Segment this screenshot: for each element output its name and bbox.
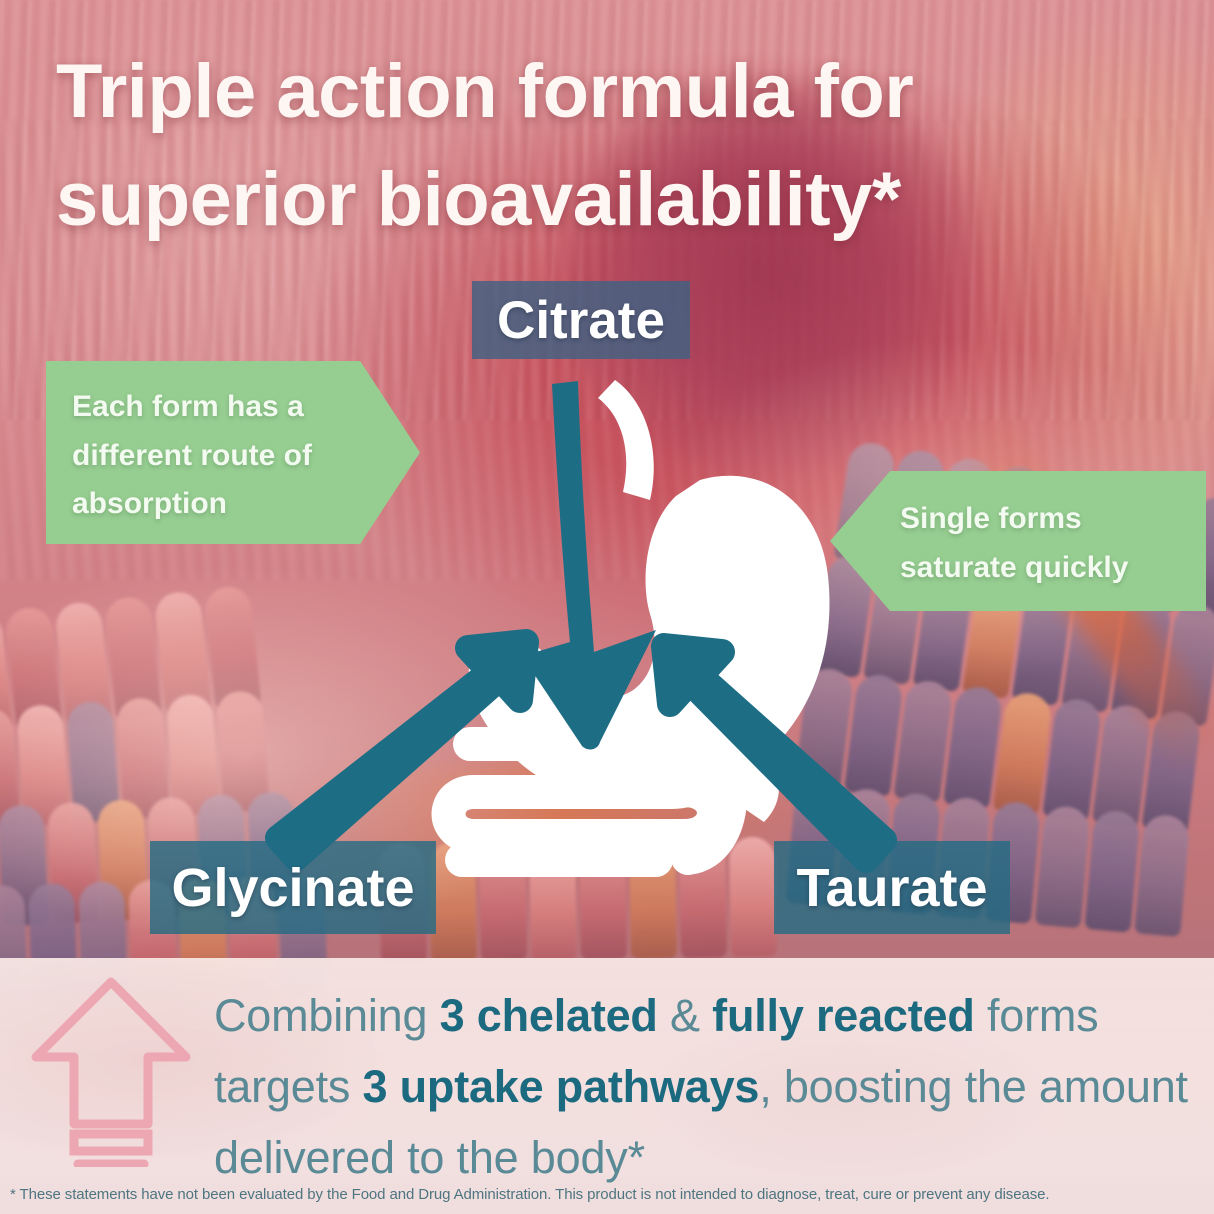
bottom-summary-panel: Combining 3 chelated & fully reacted for… <box>0 958 1214 1214</box>
page-title-line-2: superior bioavailability* <box>56 146 1066 254</box>
summary-part-0: Combining <box>214 990 440 1041</box>
summary-part-3: fully reacted <box>712 990 975 1041</box>
up-arrow-icon-wrapper <box>26 972 196 1167</box>
up-arrow-icon <box>26 972 196 1167</box>
fda-disclaimer: * These statements have not been evaluat… <box>10 1186 1210 1203</box>
bottom-summary-text: Combining 3 chelated & fully reacted for… <box>214 980 1204 1193</box>
label-taurate: Taurate <box>774 841 1010 934</box>
callout-right-saturation: Single forms saturate quickly <box>830 471 1206 611</box>
infographic-canvas: Triple action formula for superior bioav… <box>0 0 1214 1214</box>
summary-part-1: 3 chelated <box>440 990 658 1041</box>
summary-part-5: 3 uptake pathways <box>362 1061 759 1112</box>
background-villi-center <box>379 837 777 964</box>
summary-part-2: & <box>658 990 712 1041</box>
label-citrate: Citrate <box>472 281 690 359</box>
page-title-line-1: Triple action formula for <box>56 38 1066 146</box>
callout-left-absorption-route: Each form has a different route of absor… <box>46 361 420 544</box>
label-glycinate: Glycinate <box>150 841 436 934</box>
page-title: Triple action formula for superior bioav… <box>56 38 1066 254</box>
